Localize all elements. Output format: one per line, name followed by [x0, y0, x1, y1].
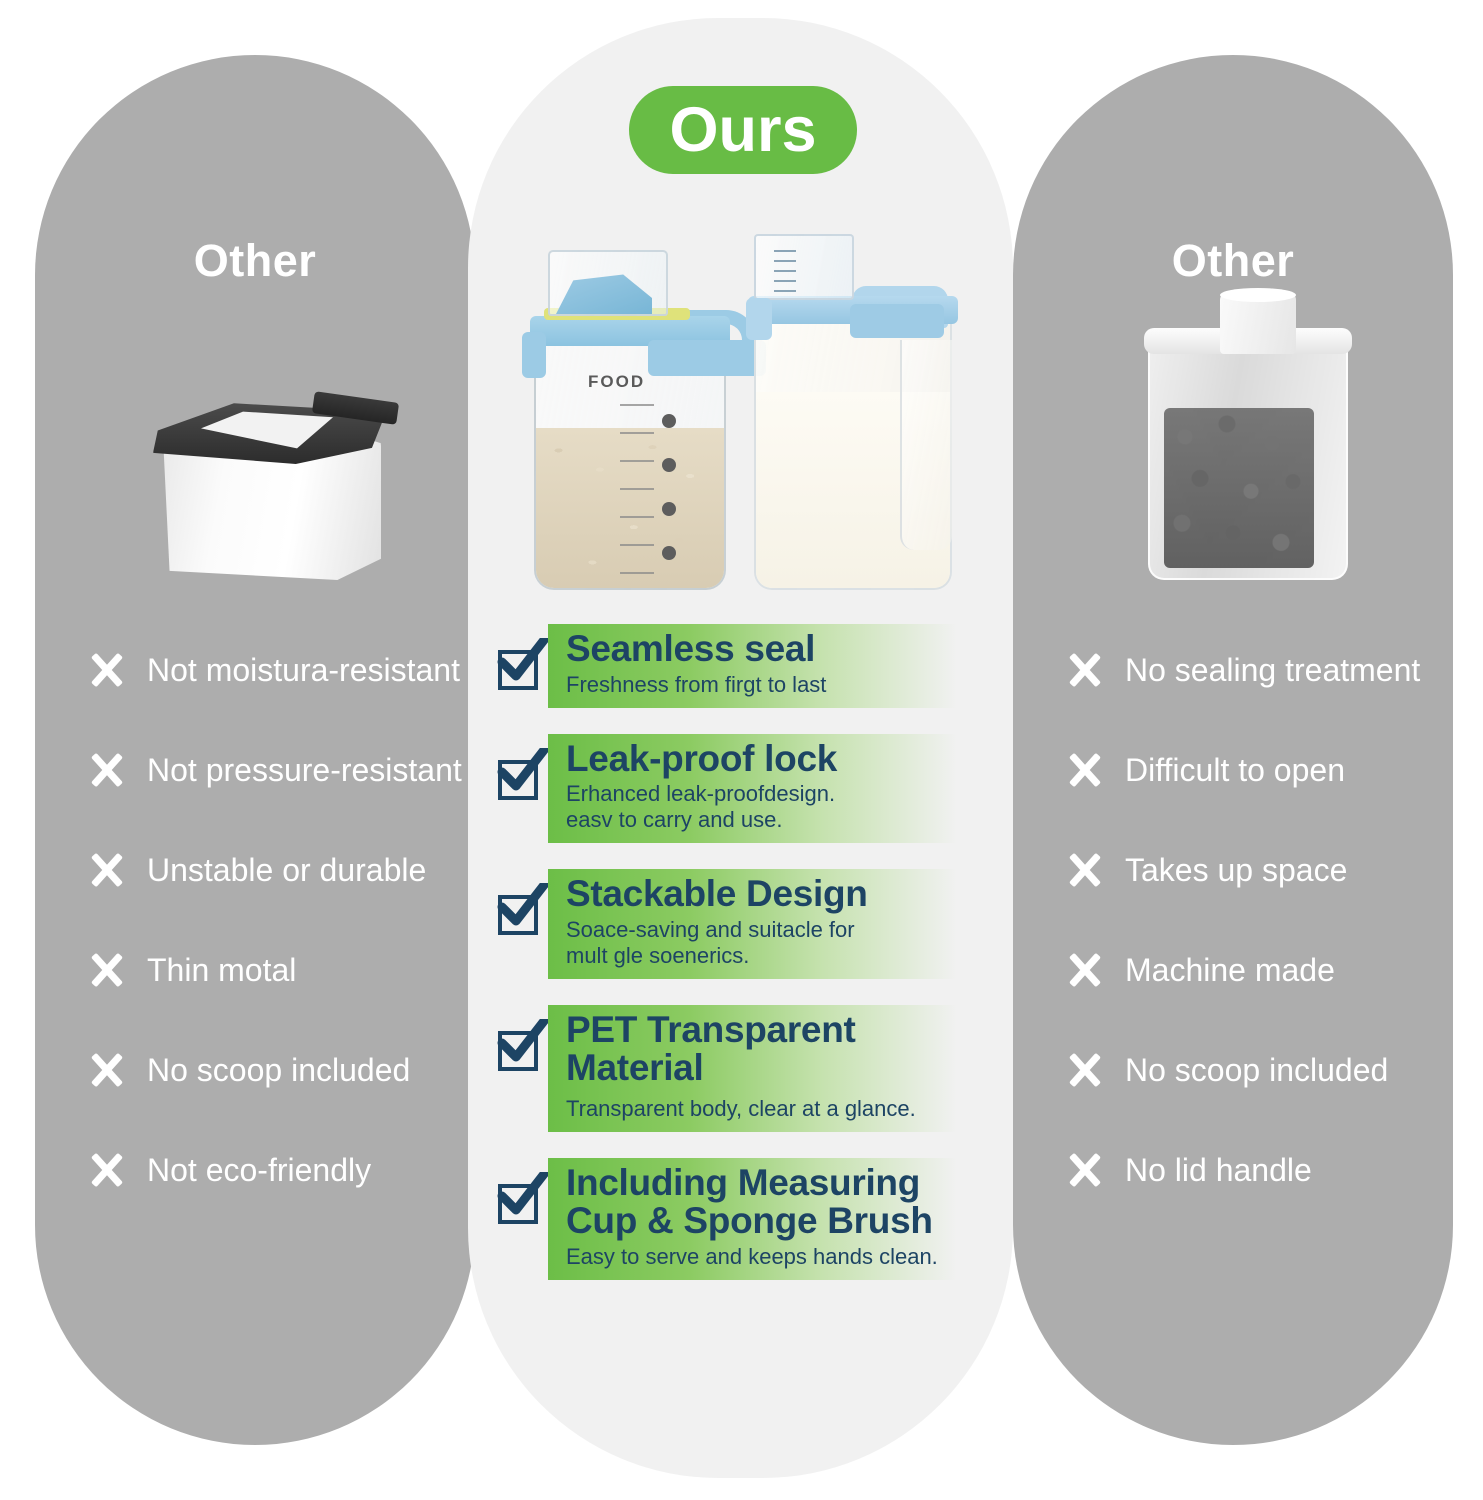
con-item: Thin motal: [35, 920, 475, 1020]
container2-spout: [900, 340, 952, 550]
canister-cap-top: [1220, 288, 1296, 302]
ours-container-rice-icon: FOOD: [516, 244, 742, 590]
ours-badge: Ours: [629, 86, 857, 174]
con-label: Thin motal: [147, 952, 296, 989]
ours-container-flour-icon: [748, 232, 958, 590]
clear-pet-canister-icon: [1148, 290, 1348, 580]
container2-clip-right: [850, 304, 944, 338]
ours-badge-label: Ours: [669, 99, 816, 162]
canister-contents: [1164, 408, 1314, 568]
x-icon: [87, 1150, 127, 1190]
feature-bar: Leak-proof lock Erhanced leak-proofdesig…: [548, 734, 992, 844]
container2-cup-graduations: [774, 250, 846, 294]
column-title-left: Other: [35, 235, 475, 287]
con-label: No lid handle: [1125, 1152, 1312, 1189]
feature-subtitle: Freshness from firgt to last: [566, 672, 982, 698]
con-item: Unstable or durable: [35, 820, 475, 920]
x-icon: [87, 1050, 127, 1090]
con-item: Takes up space: [1013, 820, 1453, 920]
feature-subtitle: Erhanced leak-proofdesign. easv to carry…: [566, 781, 982, 833]
feature-item: PET Transparent Material Transparent bod…: [492, 1005, 992, 1132]
checkbox-checked-icon: [492, 642, 548, 698]
checkbox-checked-icon: [492, 1176, 548, 1232]
con-item: No sealing treatment: [1013, 620, 1453, 720]
con-label: Difficult to open: [1125, 752, 1345, 789]
con-item: Not eco-friendly: [35, 1120, 475, 1220]
feature-subtitle: Easy to serve and keeps hands clean.: [566, 1244, 982, 1270]
feature-bar: Including Measuring Cup & Sponge Brush E…: [548, 1158, 992, 1279]
x-icon: [87, 950, 127, 990]
feature-bar: Stackable Design Soace-saving and suitac…: [548, 869, 992, 979]
container-food-label: FOOD: [588, 372, 645, 392]
other-column-right: Other No sealing treatment Difficult to …: [1013, 55, 1453, 1445]
con-label: Not moistura-resistant: [147, 652, 460, 689]
container2-clip-left: [746, 298, 772, 340]
column-title-right: Other: [1013, 235, 1453, 287]
feature-bar: PET Transparent Material Transparent bod…: [548, 1005, 992, 1132]
checkbox-checked-icon: [492, 1023, 548, 1079]
con-label: Machine made: [1125, 952, 1335, 989]
con-item: Not pressure-resistant: [35, 720, 475, 820]
feature-title: Leak-proof lock: [566, 740, 982, 778]
x-icon: [87, 650, 127, 690]
other-column-left: Other Not moistura-resistant Not pressur…: [35, 55, 475, 1445]
feature-title: PET Transparent Material: [566, 1011, 966, 1086]
con-label: Not pressure-resistant: [147, 752, 462, 789]
x-icon: [87, 750, 127, 790]
con-label: No scoop included: [147, 1052, 410, 1089]
x-icon: [1065, 1050, 1105, 1090]
con-item: Machine made: [1013, 920, 1453, 1020]
white-rice-bin-icon: [145, 370, 397, 585]
checkbox-checked-icon: [492, 887, 548, 943]
cons-list-left: Not moistura-resistant Not pressure-resi…: [35, 620, 475, 1220]
con-item: No lid handle: [1013, 1120, 1453, 1220]
con-label: Unstable or durable: [147, 852, 426, 889]
feature-bar: Seamless seal Freshness from firgt to la…: [548, 624, 992, 708]
con-item: Not moistura-resistant: [35, 620, 475, 720]
x-icon: [1065, 650, 1105, 690]
feature-item: Leak-proof lock Erhanced leak-proofdesig…: [492, 734, 992, 844]
feature-subtitle: Transparent body, clear at a glance.: [566, 1096, 982, 1122]
feature-item: Seamless seal Freshness from firgt to la…: [492, 624, 992, 708]
feature-title: Seamless seal: [566, 630, 982, 668]
x-icon: [1065, 1150, 1105, 1190]
x-icon: [1065, 750, 1105, 790]
feature-item: Including Measuring Cup & Sponge Brush E…: [492, 1158, 992, 1279]
comparison-infographic: Other Not moistura-resistant Not pressur…: [0, 0, 1483, 1500]
x-icon: [87, 850, 127, 890]
feature-subtitle: Soace-saving and suitacle for mult gle s…: [566, 917, 982, 969]
features-list: Seamless seal Freshness from firgt to la…: [492, 624, 992, 1306]
con-label: No sealing treatment: [1125, 652, 1420, 689]
feature-item: Stackable Design Soace-saving and suitac…: [492, 869, 992, 979]
con-label: No scoop included: [1125, 1052, 1388, 1089]
container-clip-left: [522, 332, 546, 378]
feature-title: Stackable Design: [566, 875, 982, 913]
cons-list-right: No sealing treatment Difficult to open T…: [1013, 620, 1453, 1220]
checkbox-checked-icon: [492, 752, 548, 808]
x-icon: [1065, 850, 1105, 890]
con-item: No scoop included: [1013, 1020, 1453, 1120]
con-label: Takes up space: [1125, 852, 1347, 889]
con-item: Difficult to open: [1013, 720, 1453, 820]
con-item: No scoop included: [35, 1020, 475, 1120]
con-label: Not eco-friendly: [147, 1152, 371, 1189]
x-icon: [1065, 950, 1105, 990]
container2-measuring-cup: [754, 234, 854, 300]
feature-title: Including Measuring Cup & Sponge Brush: [566, 1164, 982, 1239]
